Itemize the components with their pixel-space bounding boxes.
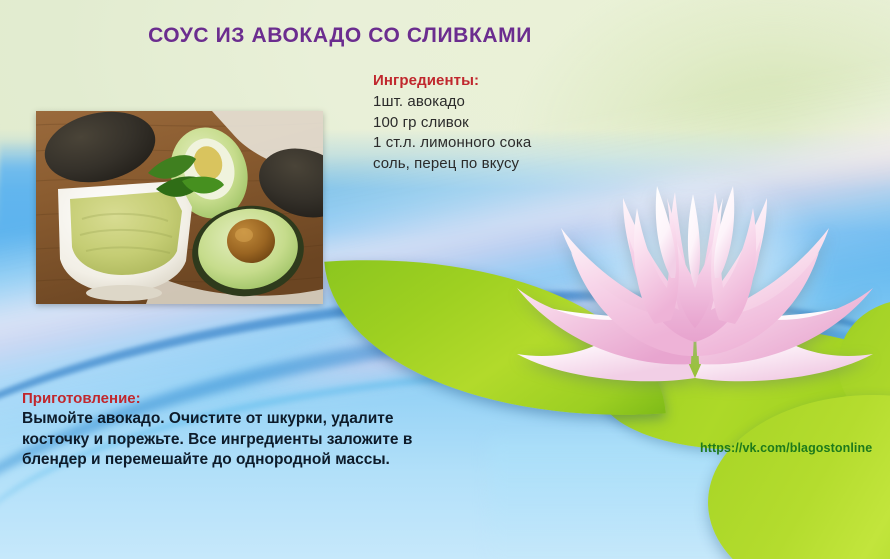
preparation-block: Приготовление: Вымойте авокадо. Очистите… bbox=[22, 390, 442, 471]
preparation-heading: Приготовление: bbox=[22, 390, 442, 407]
avocado-sauce-photo bbox=[36, 111, 323, 304]
ingredients-heading: Ингредиенты: bbox=[373, 72, 673, 89]
ingredient-item: 1 ст.л. лимонного сока bbox=[373, 133, 673, 154]
vk-community-link[interactable]: https://vk.com/blagostonline bbox=[700, 441, 872, 455]
ingredient-item: соль, перец по вкусу bbox=[373, 154, 673, 175]
ingredients-block: Ингредиенты: 1шт. авокадо 100 гр сливок … bbox=[373, 72, 673, 175]
ingredient-item: 100 гр сливок bbox=[373, 113, 673, 134]
recipe-slide: СОУС ИЗ АВОКАДО СО СЛИВКАМИ Ингредиенты:… bbox=[0, 0, 890, 559]
ingredient-item: 1шт. авокадо bbox=[373, 92, 673, 113]
page-title: СОУС ИЗ АВОКАДО СО СЛИВКАМИ bbox=[0, 24, 680, 48]
preparation-text: Вымойте авокадо. Очистите от шкурки, уда… bbox=[22, 409, 442, 471]
